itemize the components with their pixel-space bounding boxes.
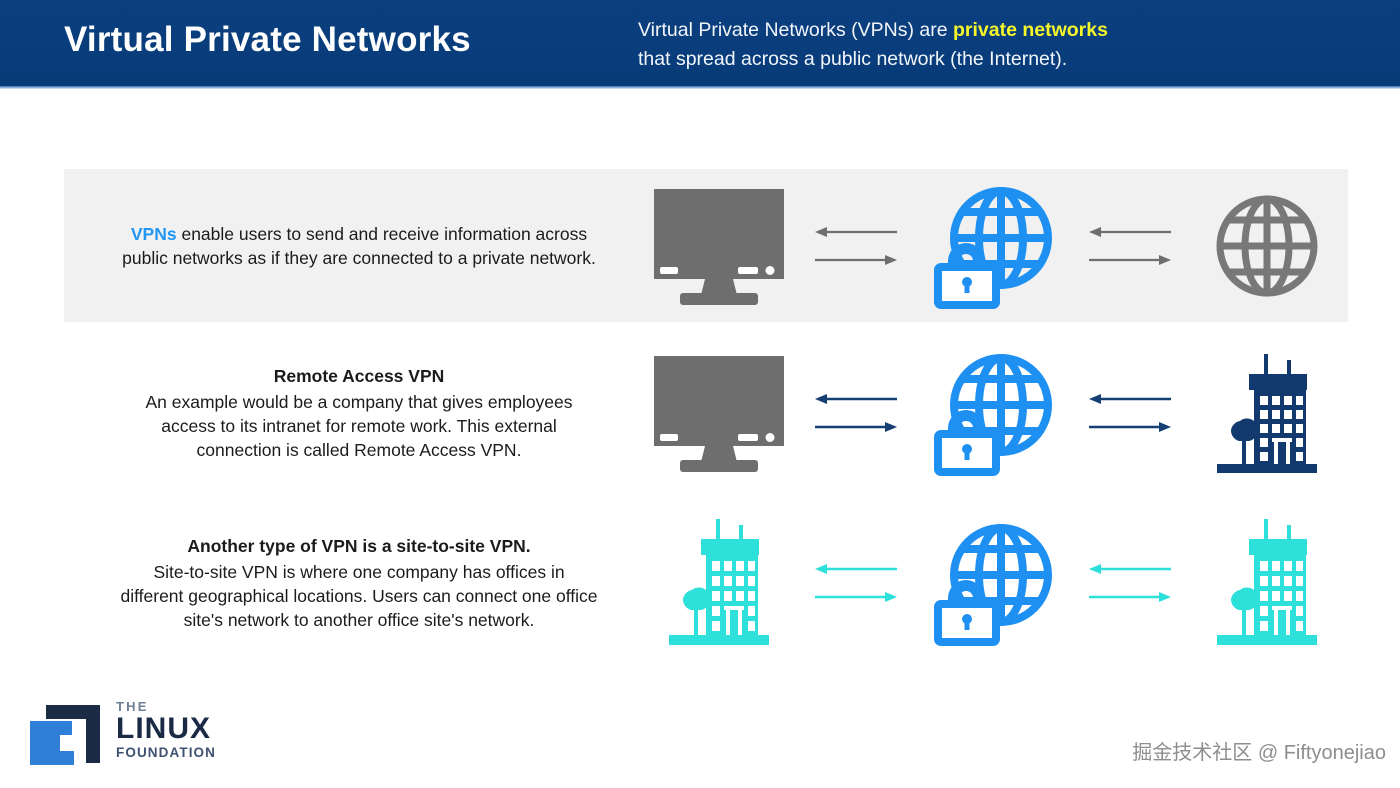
monitor-icon	[644, 352, 794, 474]
remote-access-line1: An example would be a company that gives…	[84, 390, 634, 414]
globe-icon	[1192, 191, 1342, 301]
remote-access-diagram	[644, 350, 1348, 476]
linux-foundation-wordmark: THE LINUX FOUNDATION	[116, 700, 216, 760]
remote-access-text: Remote Access VPN An example would be a …	[64, 364, 644, 462]
vpn-overview-line1-rest: enable users to send and receive informa…	[177, 224, 588, 244]
site-to-site-diagram	[644, 517, 1348, 649]
vpn-overview-diagram	[644, 183, 1348, 309]
header-subtitle-post: that spread across a public network (the…	[638, 48, 1067, 70]
linux-foundation-logo: THE LINUX FOUNDATION	[28, 703, 228, 773]
monitor-icon	[644, 185, 794, 307]
site-to-site-line3: site's network to another office site's …	[84, 608, 634, 632]
arrow-pair-right	[1070, 383, 1190, 443]
vpn-overview-line2: public networks as if they are connected…	[84, 246, 634, 270]
office-building-icon	[644, 517, 794, 649]
vpn-overview-text: VPNs enable users to send and receive in…	[64, 222, 644, 270]
globe-lock-icon	[918, 183, 1068, 309]
remote-access-line3: connection is called Remote Access VPN.	[84, 438, 634, 462]
globe-lock-icon	[918, 520, 1068, 646]
row-vpn-overview: VPNs enable users to send and receive in…	[64, 169, 1348, 322]
site-to-site-line1: Site-to-site VPN is where one company ha…	[84, 560, 634, 584]
vpns-label: VPNs	[131, 224, 177, 244]
office-building-icon	[1192, 517, 1342, 649]
arrow-pair-left	[796, 553, 916, 613]
site-to-site-title: Another type of VPN is a site-to-site VP…	[84, 534, 634, 559]
logo-foundation: FOUNDATION	[116, 746, 216, 760]
header-subtitle: Virtual Private Networks (VPNs) are priv…	[638, 16, 1338, 74]
remote-access-title: Remote Access VPN	[84, 364, 634, 389]
arrow-pair-right	[1070, 216, 1190, 276]
remote-access-line2: access to its intranet for remote work. …	[84, 414, 634, 438]
site-to-site-text: Another type of VPN is a site-to-site VP…	[64, 534, 644, 632]
linux-foundation-mark-icon	[28, 703, 102, 769]
arrow-pair-right	[1070, 553, 1190, 613]
header-subtitle-pre: Virtual Private Networks (VPNs) are	[638, 19, 953, 41]
arrow-pair-left	[796, 216, 916, 276]
watermark: 掘金技术社区 @ Fiftyonejiao	[1132, 736, 1386, 765]
row-site-to-site-vpn: Another type of VPN is a site-to-site VP…	[64, 505, 1348, 660]
page-title: Virtual Private Networks	[64, 20, 471, 60]
header-underline	[0, 86, 1400, 89]
arrow-pair-left	[796, 383, 916, 443]
vpn-overview-line1: VPNs enable users to send and receive in…	[84, 222, 634, 246]
row-remote-access-vpn: Remote Access VPN An example would be a …	[64, 338, 1348, 488]
header-subtitle-highlight: private networks	[953, 19, 1108, 41]
site-to-site-line2: different geographical locations. Users …	[84, 584, 634, 608]
globe-lock-icon	[918, 350, 1068, 476]
office-building-icon	[1192, 352, 1342, 474]
logo-linux: LINUX	[116, 714, 216, 744]
